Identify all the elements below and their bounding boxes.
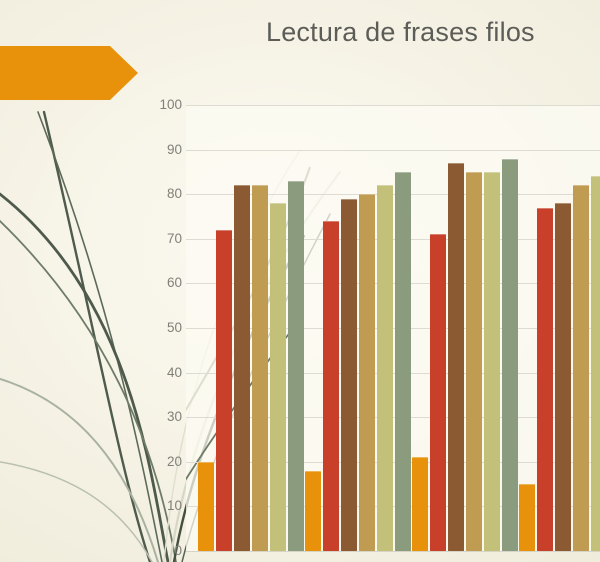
bar-1-6[interactable]: [288, 181, 304, 551]
bar-2-3[interactable]: [341, 199, 357, 551]
bar-2-6[interactable]: [395, 172, 411, 551]
y-axis-tick-40: 40: [167, 366, 182, 380]
y-axis-tick-90: 90: [167, 143, 182, 157]
bar-group-2: [305, 105, 411, 551]
y-axis-tick-20: 20: [167, 455, 182, 469]
y-axis-tick-0: 0: [174, 544, 182, 558]
gridline-0: [186, 551, 600, 552]
bar-4-2[interactable]: [537, 208, 553, 551]
bar-2-1[interactable]: [305, 471, 321, 551]
bar-1-5[interactable]: [270, 203, 286, 551]
bar-group-4: [519, 105, 600, 551]
bar-3-1[interactable]: [412, 457, 428, 551]
orange-chevron-banner: [0, 44, 138, 102]
bar-1-4[interactable]: [252, 185, 268, 551]
bar-group-1: [198, 105, 304, 551]
y-axis-tick-100: 100: [159, 98, 182, 112]
bar-2-2[interactable]: [323, 221, 339, 551]
bar-2-4[interactable]: [359, 194, 375, 551]
bar-group-3: [412, 105, 518, 551]
bar-3-6[interactable]: [502, 159, 518, 551]
y-axis-tick-80: 80: [167, 187, 182, 201]
bar-3-2[interactable]: [430, 234, 446, 551]
y-axis-tick-60: 60: [167, 276, 182, 290]
y-axis-tick-10: 10: [167, 499, 182, 513]
bar-4-5[interactable]: [591, 176, 600, 551]
bar-3-5[interactable]: [484, 172, 500, 551]
bar-4-4[interactable]: [573, 185, 589, 551]
y-axis-tick-30: 30: [167, 410, 182, 424]
bar-1-3[interactable]: [234, 185, 250, 551]
page-title: Lectura de frases filos: [266, 17, 535, 48]
bar-1-2[interactable]: [216, 230, 232, 551]
y-axis-labels: 0102030405060708090100: [150, 105, 182, 551]
bar-1-1[interactable]: [198, 462, 214, 551]
bar-2-5[interactable]: [377, 185, 393, 551]
bar-4-1[interactable]: [519, 484, 535, 551]
bar-4-3[interactable]: [555, 203, 571, 551]
bar-3-3[interactable]: [448, 163, 464, 551]
bar-3-4[interactable]: [466, 172, 482, 551]
slide-canvas: Lectura de frases filos 0102030405060708…: [0, 0, 600, 562]
bar-chart-plot-area: [186, 105, 600, 551]
y-axis-tick-50: 50: [167, 321, 182, 335]
y-axis-tick-70: 70: [167, 232, 182, 246]
